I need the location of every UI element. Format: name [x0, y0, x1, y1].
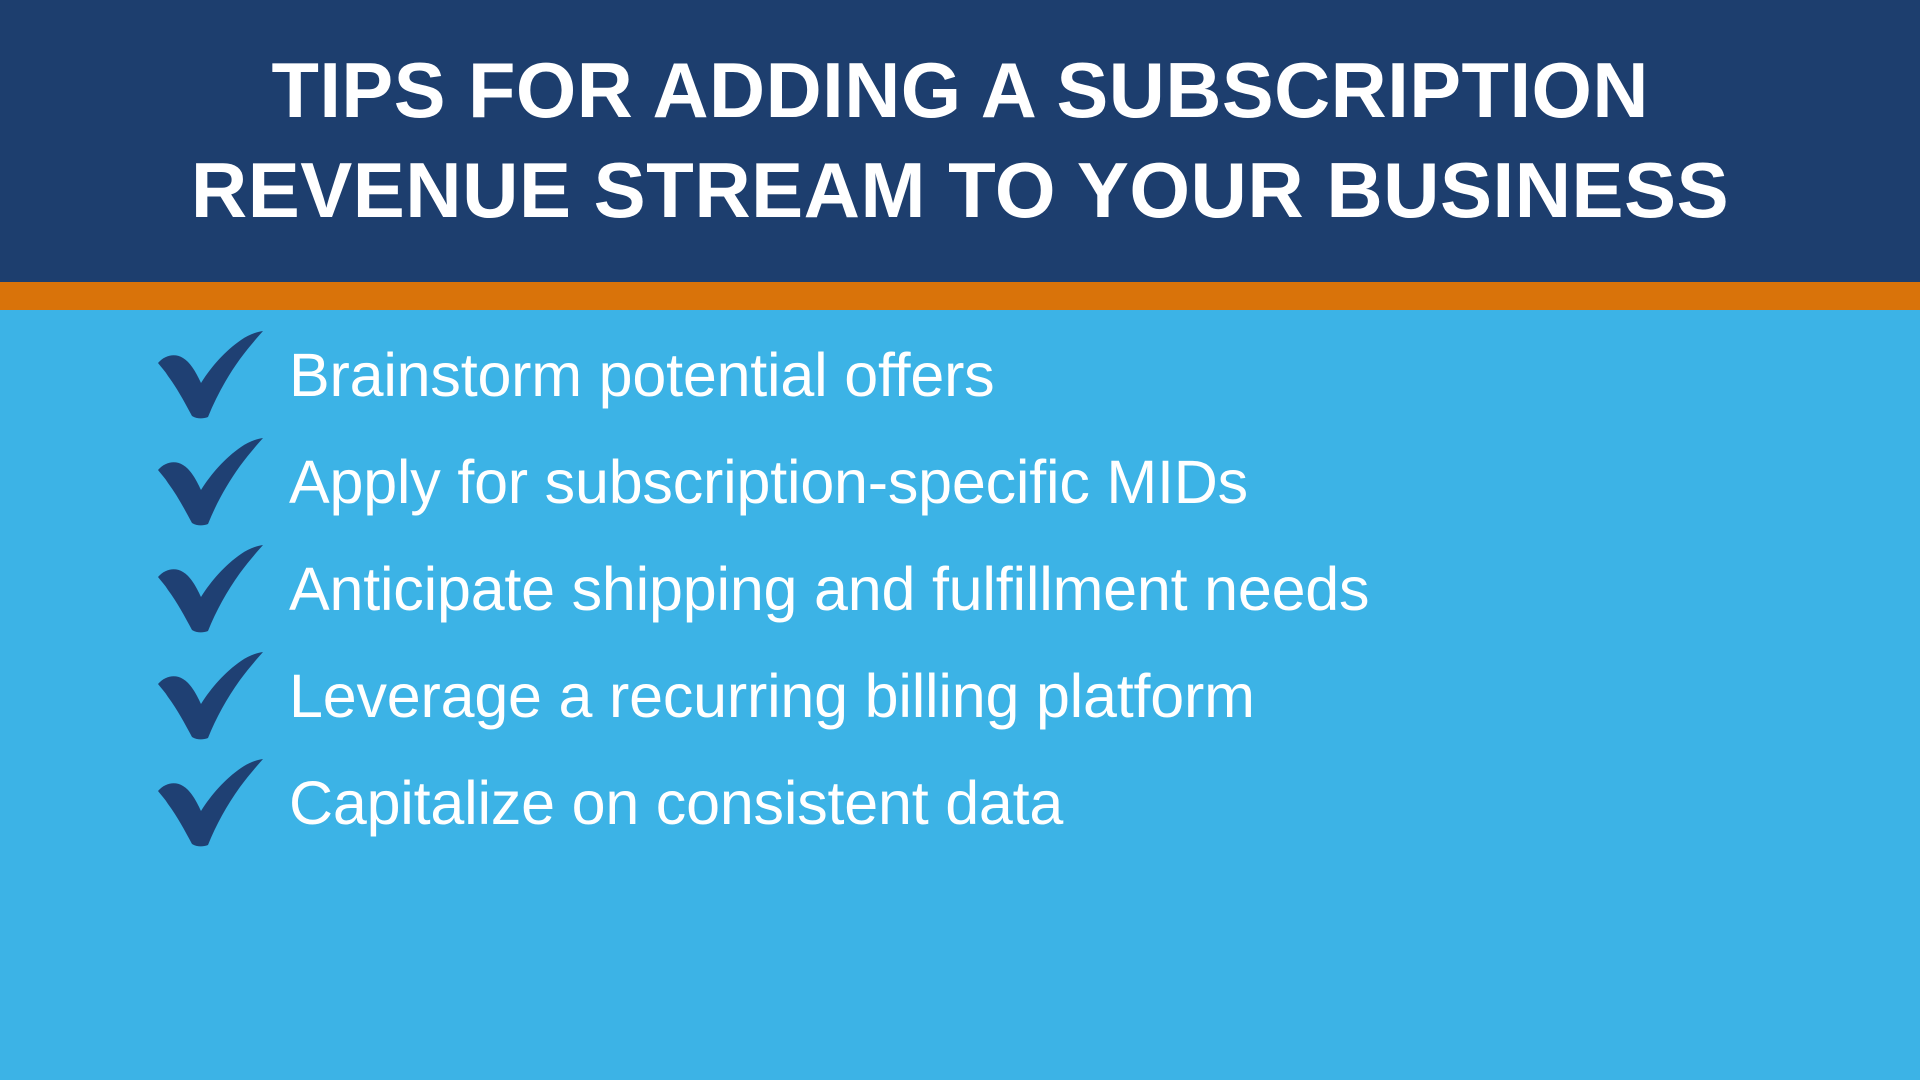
- slide-canvas: TIPS FOR ADDING A SUBSCRIPTION REVENUE S…: [0, 0, 1920, 1080]
- check-icon: [155, 438, 273, 528]
- list-item: Leverage a recurring billing platform: [155, 643, 1255, 750]
- header-band: TIPS FOR ADDING A SUBSCRIPTION REVENUE S…: [0, 0, 1920, 282]
- list-item: Apply for subscription-specific MIDs: [155, 429, 1248, 536]
- check-icon: [155, 652, 273, 742]
- list-item: Brainstorm potential offers: [155, 322, 994, 429]
- page-title-line-2: REVENUE STREAM TO YOUR BUSINESS: [191, 141, 1729, 241]
- list-item-label: Apply for subscription-specific MIDs: [289, 450, 1248, 514]
- body-area: Brainstorm potential offers Apply for su…: [0, 310, 1920, 1080]
- list-item-label: Leverage a recurring billing platform: [289, 664, 1255, 728]
- page-title-line-1: TIPS FOR ADDING A SUBSCRIPTION: [271, 41, 1648, 141]
- check-icon: [155, 545, 273, 635]
- check-icon: [155, 331, 273, 421]
- check-icon: [155, 759, 273, 849]
- list-item-label: Anticipate shipping and fulfillment need…: [289, 557, 1369, 621]
- list-item-label: Brainstorm potential offers: [289, 343, 994, 407]
- list-item-label: Capitalize on consistent data: [289, 771, 1063, 835]
- list-item: Anticipate shipping and fulfillment need…: [155, 536, 1369, 643]
- accent-divider: [0, 282, 1920, 310]
- list-item: Capitalize on consistent data: [155, 750, 1063, 857]
